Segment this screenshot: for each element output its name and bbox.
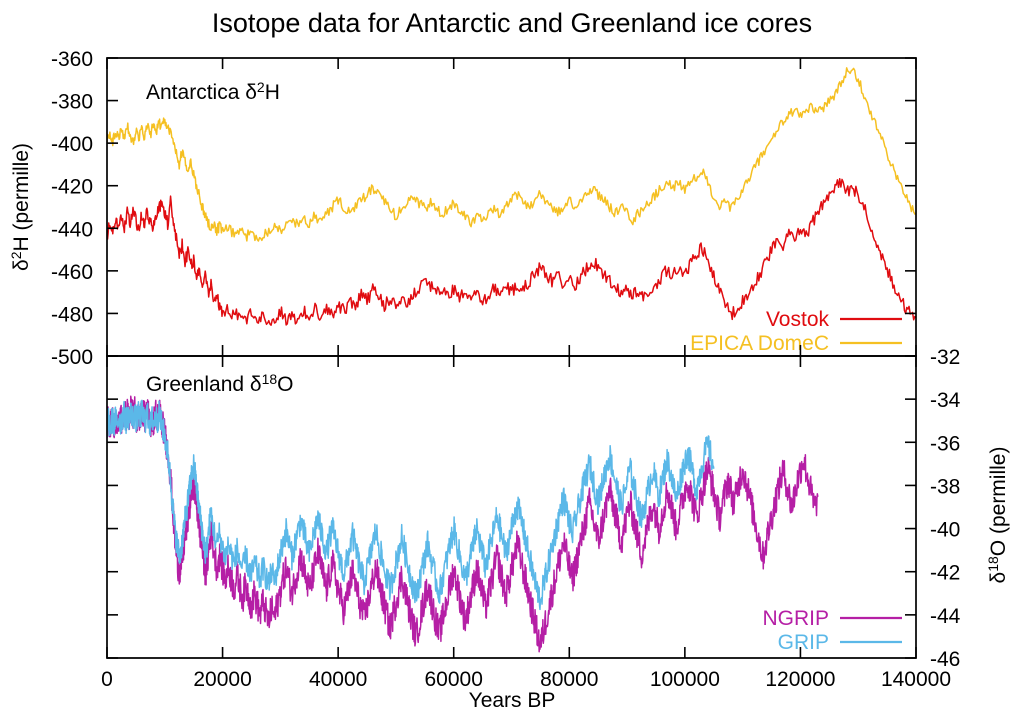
y-tick-label: -360 [51,48,93,71]
greenland-series-group [107,396,818,651]
antarctica-label-base: Antarctica δ [146,81,257,104]
y-tick-label: -40 [930,519,960,542]
x-tick-label: 60000 [425,668,483,691]
y-tick-label: -42 [930,562,960,585]
antarctica-ytitle-superscript: 2 [8,251,24,259]
x-tick-label: 80000 [540,668,598,691]
legend-label-vostok[interactable]: Vostok [766,308,830,331]
antarctica-y-axis-title: δ2H (permille) [8,143,33,271]
chart-title: Isotope data for Antarctic and Greenland… [212,8,812,38]
y-tick-label: -440 [51,218,93,241]
isotope-chart: Isotope data for Antarctic and Greenland… [0,0,1024,717]
y-tick-label: -38 [930,475,960,498]
x-tick-label: 40000 [309,668,367,691]
x-tick-label: 120000 [765,668,835,691]
antarctica-ytitle-tail: H (permille) [10,143,33,252]
legend-label-epica-domec[interactable]: EPICA DomeC [690,332,829,355]
x-tick-label: 140000 [881,668,951,691]
y-tick-label: -420 [51,176,93,199]
greenland-ytitle-base: δ [987,572,1010,584]
y-tick-label: -32 [930,346,960,369]
y-tick-label: -380 [51,91,93,114]
antarctica-ytitle-base: δ [10,259,33,271]
greenland-ytitle-tail: O (permille) [987,447,1010,557]
legend-label-grip[interactable]: GRIP [778,631,829,654]
antarctica-legend: Vostok EPICA DomeC [690,308,902,355]
antarctica-label-superscript: 2 [257,79,265,95]
y-tick-label: -460 [51,261,93,284]
legend-label-ngrip[interactable]: NGRIP [762,607,829,630]
y-tick-label: -34 [930,389,961,412]
x-tick-label: 0 [101,668,113,691]
chart-figure: Isotope data for Antarctic and Greenland… [0,0,1024,717]
x-axis-title: Years BP [469,689,556,712]
antarctica-label-tail: H [265,81,280,104]
panel-greenland: -46-44-42-40-38-36-34-32 Greenland δ18O … [107,346,1010,671]
y-tick-label: -44 [930,605,961,628]
panel-antarctica: -500-480-460-440-420-400-380-360 Antarct… [8,48,916,369]
y-tick-label: -500 [51,346,93,369]
y-tick-label: -400 [51,133,93,156]
x-tick-label: 100000 [650,668,720,691]
greenland-legend: NGRIP GRIP [762,607,902,654]
greenland-label-superscript: 18 [262,371,278,387]
series-line-grip [107,400,714,609]
greenland-y-axis-title: δ18O (permille) [985,447,1010,584]
y-tick-label: -480 [51,303,93,326]
greenland-panel-label: Greenland δ18O [146,371,294,396]
greenland-label-base: Greenland δ [146,373,262,396]
y-tick-label: -36 [930,432,960,455]
antarctica-series-group [107,68,916,325]
greenland-label-tail: O [277,373,293,396]
greenland-ytitle-superscript: 18 [985,556,1001,572]
antarctica-panel-label: Antarctica δ2H [146,79,280,104]
x-tick-label: 20000 [193,668,251,691]
